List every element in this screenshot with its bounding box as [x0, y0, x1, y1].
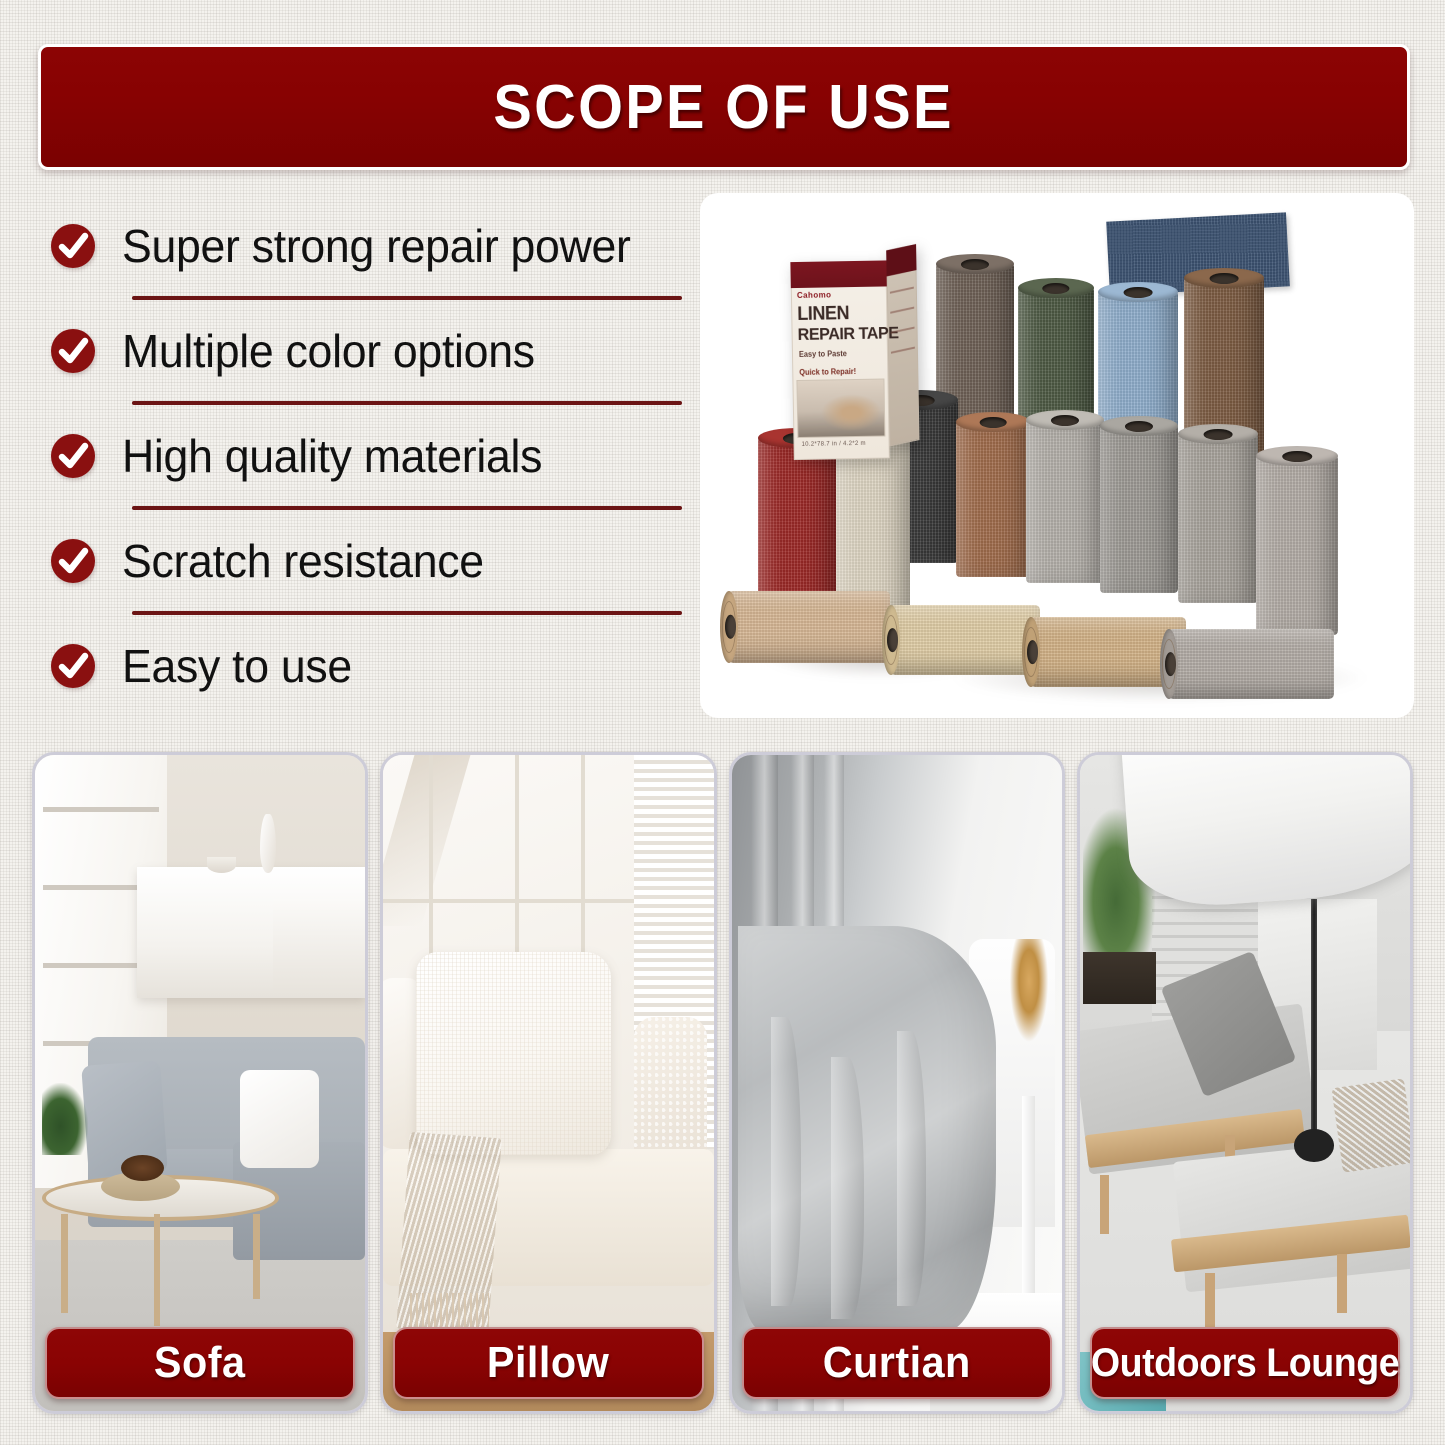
- feature-label: Easy to use: [122, 639, 352, 693]
- tape-roll-warm-grey: [1178, 433, 1258, 603]
- poolside-sun-loungers-photo: [1080, 755, 1410, 1411]
- scene-card-row: Sofa: [32, 752, 1413, 1414]
- scene-label-text: Curtian: [823, 1338, 971, 1388]
- white-linen-pillow-on-armchair-photo: [383, 755, 713, 1411]
- infographic-page: SCOPE OF USE Super strong repair power M…: [0, 0, 1445, 1445]
- box-tagline-1: Easy to Paste: [799, 349, 847, 359]
- box-lifestyle-photo: [796, 378, 885, 438]
- check-circle-icon: [50, 433, 96, 479]
- scene-card-outdoors-lounge[interactable]: Outdoors Lounge: [1077, 752, 1413, 1414]
- living-room-grey-sofa-photo: [35, 755, 365, 1411]
- check-circle-icon: [50, 538, 96, 584]
- scene-label-text: Pillow: [487, 1338, 609, 1388]
- feature-label: Scratch resistance: [122, 534, 484, 588]
- box-top-band: [790, 260, 886, 288]
- scene-card-curtain[interactable]: Curtian: [729, 752, 1065, 1414]
- scene-card-pillow[interactable]: Pillow: [380, 752, 716, 1414]
- feature-item-3: Scratch resistance: [42, 508, 682, 613]
- box-feature-bullets: [890, 280, 915, 360]
- header-banner: SCOPE OF USE: [38, 44, 1410, 170]
- feature-item-4: Easy to use: [42, 613, 682, 718]
- box-brand: Cahomo: [797, 290, 832, 300]
- scene-label-text: Outdoors Lounge: [1091, 1341, 1399, 1386]
- feature-label: High quality materials: [122, 429, 542, 483]
- tape-roll-grey-lilac-front: [1168, 629, 1334, 699]
- page-title: SCOPE OF USE: [494, 72, 954, 143]
- feature-item-0: Super strong repair power: [42, 193, 682, 298]
- box-tagline-2: Quick to Repair!: [799, 367, 856, 377]
- tape-roll-light-grey: [1026, 419, 1104, 583]
- tape-roll-terracotta: [956, 421, 1030, 577]
- check-circle-icon: [50, 328, 96, 374]
- product-box: Cahomo LINEN REPAIR TAPE Easy to Paste Q…: [790, 250, 920, 460]
- scene-card-sofa[interactable]: Sofa: [32, 752, 368, 1414]
- grey-draped-curtain-photo: [732, 755, 1062, 1411]
- feature-label: Super strong repair power: [122, 219, 631, 273]
- check-circle-icon: [50, 643, 96, 689]
- feature-list: Super strong repair power Multiple color…: [42, 193, 682, 718]
- feature-item-2: High quality materials: [42, 403, 682, 508]
- product-photo-panel: Cahomo LINEN REPAIR TAPE Easy to Paste Q…: [700, 193, 1414, 718]
- check-circle-icon: [50, 223, 96, 269]
- scene-label-text: Sofa: [154, 1338, 246, 1388]
- tape-roll-grey-lilac: [1256, 455, 1338, 635]
- scene-label-badge: Outdoors Lounge: [1090, 1327, 1400, 1399]
- scene-label-badge: Pillow: [393, 1327, 703, 1399]
- tape-roll-beige: [728, 591, 890, 663]
- box-size-spec: 10.2*78.7 in / 4.2*2 m: [802, 441, 866, 448]
- tape-roll-mid-grey: [1100, 425, 1178, 593]
- scene-label-badge: Sofa: [45, 1327, 355, 1399]
- tape-roll-cream: [890, 605, 1040, 675]
- box-title-line2: REPAIR TAPE: [797, 323, 898, 345]
- product-stage: Cahomo LINEN REPAIR TAPE Easy to Paste Q…: [700, 193, 1414, 718]
- feature-label: Multiple color options: [122, 324, 535, 378]
- scene-label-badge: Curtian: [742, 1327, 1052, 1399]
- box-title-line1: LINEN: [797, 303, 849, 326]
- feature-item-1: Multiple color options: [42, 298, 682, 403]
